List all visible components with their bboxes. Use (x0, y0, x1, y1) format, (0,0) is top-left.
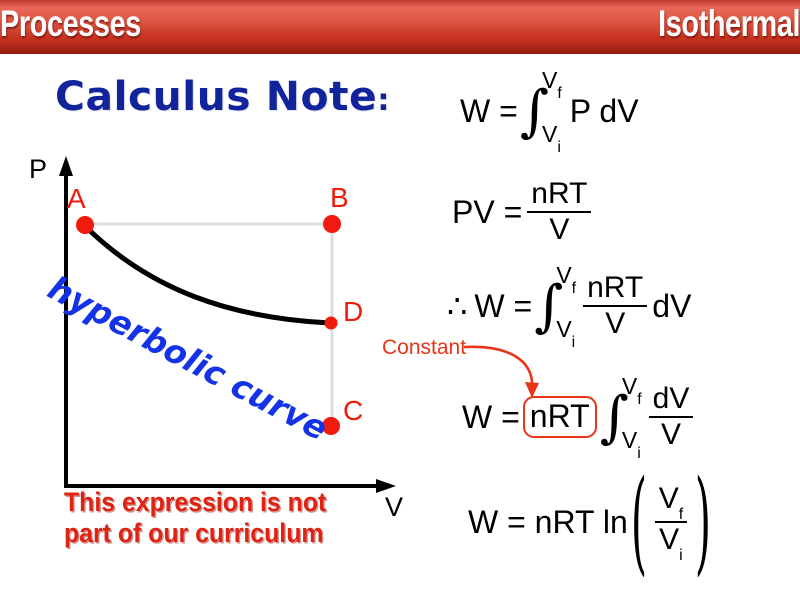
header-right-title: Isothermal (658, 1, 800, 47)
upper-limit-subscript: f (637, 391, 641, 408)
curriculum-disclaimer: This expression is not part of our curri… (64, 487, 340, 549)
fraction-denominator: V (657, 419, 685, 451)
equation-4-lhs: W = (462, 399, 520, 436)
point-label-c: C (343, 395, 363, 427)
therefore-symbol: ∴ (447, 287, 467, 325)
equation-3-lhs: W = (474, 288, 532, 325)
integral-symbol-4: ∫ Vf Vi (600, 388, 642, 446)
equation-work-substituted: ∴ W = ∫ Vf Vi nRT V dV (447, 272, 691, 340)
paren-close: ) (695, 465, 711, 578)
equation-work-integral: W = ∫ Vf Vi P dV (460, 82, 639, 140)
fraction-dv-over-v: dV V (649, 383, 694, 451)
integral-symbol-3: ∫ Vf Vi (534, 277, 576, 335)
upper-limit-subscript: f (572, 280, 576, 297)
x-axis-arrowhead (376, 479, 396, 493)
integral-lower-limit-4: Vi (622, 429, 642, 458)
y-axis-arrowhead (59, 156, 73, 176)
point-a (76, 216, 94, 234)
upper-limit-subscript: f (557, 85, 561, 102)
numerator-subscript: f (679, 506, 683, 523)
point-label-a: A (67, 183, 86, 215)
lower-limit-subscript: i (557, 139, 561, 156)
equation-constant-factored: W = nRT ∫ Vf Vi dV V (462, 383, 698, 451)
fraction-denominator: Vi (655, 524, 687, 561)
fraction-denominator: V (545, 214, 573, 246)
denominator-subscript: i (679, 547, 683, 564)
point-d (325, 317, 338, 330)
fraction-nrt-over-v-3: nRT V (583, 272, 647, 340)
point-b (323, 215, 341, 233)
boxed-nrt-term: nRT (523, 396, 597, 437)
constant-callout-label: Constant (382, 336, 466, 360)
equation-2-lhs: PV = (452, 194, 522, 231)
integral-upper-limit-1: Vf (542, 69, 562, 98)
point-label-d: D (343, 296, 363, 328)
integral-upper-limit-4: Vf (622, 375, 642, 404)
integral-symbol-1: ∫ Vf Vi (520, 82, 562, 140)
equation-5-lhs: W = nRT ln (468, 504, 628, 541)
equation-3-differential: dV (652, 288, 691, 325)
paren-open: ( (631, 465, 647, 578)
point-label-b: B (330, 182, 349, 214)
integral-lower-limit-1: Vi (542, 123, 562, 152)
equation-ideal-gas: PV = nRT V (452, 178, 596, 246)
pv-diagram: P V A B C D hyperbolic curve (0, 0, 430, 540)
equation-1-integrand: P dV (570, 93, 639, 130)
equation-1-lhs: W = (460, 93, 518, 130)
fraction-numerator: nRT (527, 178, 591, 210)
equation-isothermal-work-result: W = nRT ln ( Vf Vi ) (468, 483, 714, 561)
fraction-numerator: Vf (655, 483, 687, 520)
fraction-numerator: dV (649, 383, 694, 415)
fraction-vf-over-vi: Vf Vi (655, 483, 687, 561)
fraction-nrt-over-v: nRT V (527, 178, 591, 246)
fraction-denominator: V (601, 308, 629, 340)
x-axis-label: V (385, 492, 403, 523)
y-axis-label: P (29, 154, 47, 185)
fraction-numerator: nRT (583, 272, 647, 304)
integral-upper-limit-3: Vf (556, 264, 576, 293)
